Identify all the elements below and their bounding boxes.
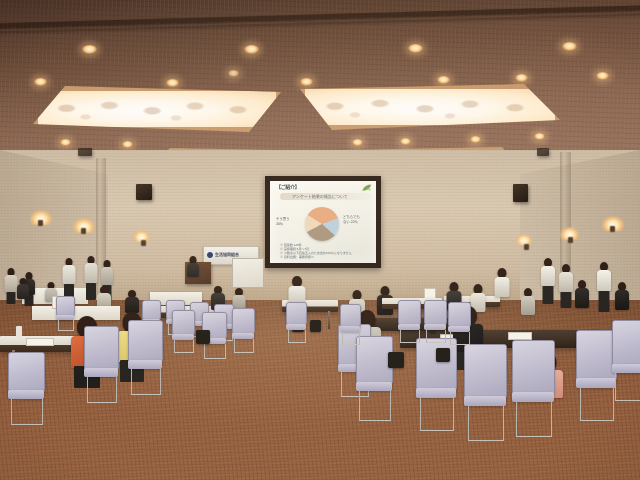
chair-legs [204,344,226,359]
seated-participant [494,268,510,302]
stacking-chair[interactable] [356,336,392,420]
projection-screen[interactable]: 【ご紹介】 アンケート結果の報告について そう思う 38％ どちらでも ない 2… [265,176,381,268]
stacking-chair[interactable] [8,352,44,424]
standing-attendee [540,258,555,304]
person-torso [17,284,29,299]
wall-sconce [73,218,95,233]
wall-sconce [516,234,532,245]
recessed-downlight [408,44,423,53]
stacking-chair[interactable] [398,300,420,342]
chair-back [84,326,119,372]
person-torso [125,297,139,313]
chair-back [448,302,471,329]
person-torso [63,265,76,284]
recessed-downlight [300,78,313,86]
chair-legs [234,339,254,353]
recessed-downlight [244,45,259,54]
chair-legs [468,406,504,441]
chair-legs [288,330,306,343]
wall-fixture [537,148,549,156]
chair-legs [174,340,194,353]
seated-participant [16,278,29,302]
person-torso [495,277,510,297]
stacking-chair[interactable] [448,302,470,344]
leaf-logo-icon [361,183,372,192]
person-torso [559,272,573,292]
stacking-chair[interactable] [424,300,446,342]
slide-subtitle-bar: アンケート結果の報告について [280,193,370,200]
stacking-chair[interactable] [232,308,254,352]
wall-sconce [133,230,150,242]
person-legs [542,286,553,304]
chair-seat [8,390,44,399]
table-leg [328,311,330,329]
chair-legs [580,388,614,421]
stacking-chair[interactable] [286,302,306,342]
slide-note-line: ※ 資料出典：事務局調べ [280,255,352,259]
person-torso [521,296,535,315]
chair-seat [128,360,162,369]
chair-back [464,344,507,400]
chair-seat [84,368,118,377]
presentation-slide: 【ご紹介】 アンケート結果の報告について そう思う 38％ どちらでも ない 2… [270,181,376,263]
chair-back [232,308,255,336]
bag [310,320,321,332]
recessed-downlight [562,42,577,51]
standing-attendee [62,258,76,300]
chair-legs [400,330,420,343]
standing-attendee [596,262,611,312]
person-legs [86,283,96,300]
stacking-chair[interactable] [172,310,194,352]
bag [436,348,450,362]
paper-sheet [26,338,54,346]
panel-diffuser [38,91,276,127]
stacking-chair[interactable] [576,330,616,420]
ceiling-speaker [513,184,528,202]
chair-legs [516,402,552,437]
chair-legs [359,391,391,421]
recessed-downlight [82,45,97,54]
seated-participant [574,280,589,312]
recessed-downlight [34,78,47,86]
person-torso [597,270,611,291]
chair-legs [450,332,470,345]
slide-subtitle: アンケート結果の報告について [280,193,370,200]
recessed-downlight [400,138,411,145]
chair-seat [512,392,554,402]
person-torso [101,267,113,285]
recessed-downlight [437,76,450,84]
recessed-downlight [352,139,363,146]
person-torso [615,290,629,310]
ceiling-speaker [136,184,152,200]
stacking-chair[interactable] [128,320,162,394]
pie-label-left-value: 38％ [276,222,283,226]
drink-cup [16,326,22,338]
person-legs [560,292,571,308]
chair-back [8,352,45,394]
bag [196,330,210,344]
chair-seat [464,396,506,406]
organization-logo-icon [207,252,213,258]
person-torso [187,263,199,277]
chair-seat [416,388,456,398]
person-torso [541,266,555,286]
recessed-downlight [470,136,481,143]
chair-legs [11,399,43,425]
stacking-chair[interactable] [56,296,74,330]
stacking-chair[interactable] [340,304,360,344]
chair-legs [131,369,161,395]
seated-participant [520,288,535,318]
presenter [186,256,200,282]
chair-seat [576,378,616,388]
chair-back [398,300,421,327]
pie-label-right: どちらでも [343,215,360,219]
pie-label-left: そう思う [276,217,290,221]
chair-back [576,330,617,382]
chair-legs [58,320,74,331]
chair-legs [615,373,640,401]
stacking-chair[interactable] [612,320,640,400]
standing-attendee [558,264,573,308]
pie-chart [305,207,339,241]
stacking-chair[interactable] [512,340,554,436]
wall-fixture [78,148,92,156]
wall-sconce [602,216,624,231]
chair-back [424,300,447,327]
stacking-chair[interactable] [84,326,118,402]
person-torso [575,288,589,308]
chair-legs [87,377,117,403]
chair-seat [356,382,392,391]
floral-pattern [305,89,555,125]
recessed-downlight [534,133,545,140]
wall-sconce [30,210,52,225]
chair-seat [612,364,640,373]
stacking-chair[interactable] [464,344,506,440]
pie-label-right-value: ない 22％ [343,220,358,224]
chair-legs [420,398,454,431]
slide-title: 【ご紹介】 [276,184,300,191]
recessed-downlight [596,72,609,80]
seated-participant [614,282,629,314]
paper-sheet [508,332,532,340]
person-legs [7,292,16,304]
chair-legs [342,332,360,345]
bag [388,352,404,368]
chair-back [128,320,163,364]
slide-notes: ※ 回答数 125件 ※ 実施期間 6月～7月 ※ 小数点以下四捨五入のため合計… [280,243,352,259]
recessed-downlight [228,70,239,77]
person-torso [85,263,98,283]
chair-back [416,338,457,392]
recessed-downlight [515,74,528,82]
recessed-downlight [166,79,179,87]
chair-back [612,320,640,368]
chair-legs [426,330,446,343]
whiteboard [232,258,264,288]
chair-back [512,340,555,396]
conference-room-photo: 【ご紹介】 アンケート結果の報告について そう思う 38％ どちらでも ない 2… [0,0,640,480]
floral-pattern [38,91,276,127]
wall-sconce [560,227,579,240]
person-legs [598,291,609,312]
illuminated-ceiling-panel [33,86,281,132]
chair-back [172,310,195,337]
recessed-downlight [60,139,71,146]
panel-diffuser [305,89,555,125]
recessed-downlight [122,141,133,148]
